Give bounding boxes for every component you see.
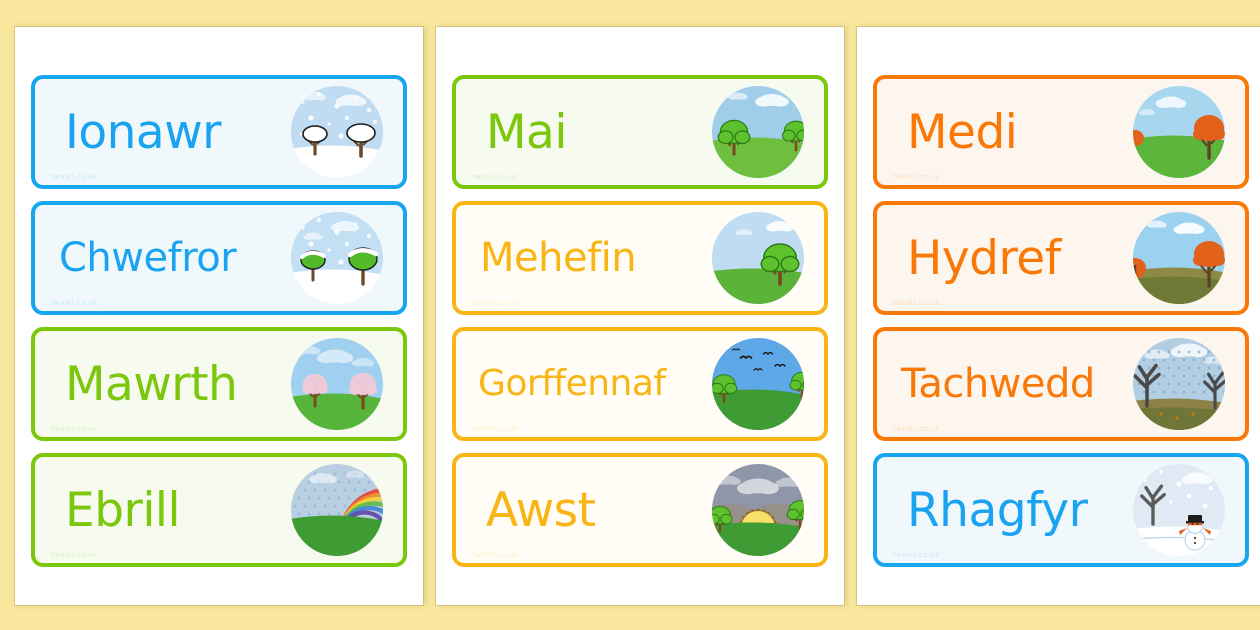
month-card-ionawr[interactable]: Ionawrtwinkl.co.uk	[31, 75, 407, 189]
watermark: twinkl.co.uk	[51, 425, 98, 433]
month-card-gorffennaf[interactable]: Gorffennaftwinkl.co.uk	[452, 327, 828, 441]
month-card-tachwedd[interactable]: Tachweddtwinkl.co.uk	[873, 327, 1249, 441]
bare-trees-rain-icon	[1131, 336, 1227, 432]
watermark: twinkl.co.uk	[893, 173, 940, 181]
birds-blue-sky-icon	[710, 336, 806, 432]
watermark: twinkl.co.uk	[51, 173, 98, 181]
autumn-tree-icon	[1131, 84, 1227, 180]
month-card-chwefror[interactable]: Chwefrortwinkl.co.uk	[31, 201, 407, 315]
sheet-3: Meditwinkl.co.ukHydreftwinkl.co.ukTachwe…	[857, 27, 1260, 605]
month-label: Tachwedd	[895, 364, 1131, 404]
month-card-mai[interactable]: Maitwinkl.co.uk	[452, 75, 828, 189]
sheet-row: Ionawrtwinkl.co.ukChwefrortwinkl.co.ukMa…	[0, 0, 1260, 630]
single-tree-sky-icon	[710, 210, 806, 306]
watermark: twinkl.co.uk	[893, 299, 940, 307]
month-card-rhagfyr[interactable]: Rhagfyrtwinkl.co.uk	[873, 453, 1249, 567]
month-label: Awst	[474, 487, 710, 534]
sheet-2: Maitwinkl.co.ukMehefintwinkl.co.ukGorffe…	[436, 27, 844, 605]
month-label: Rhagfyr	[895, 487, 1131, 534]
month-label: Hydref	[895, 235, 1131, 282]
month-label: Ionawr	[53, 109, 289, 156]
month-label: Mai	[474, 109, 710, 156]
month-card-mawrth[interactable]: Mawrthtwinkl.co.uk	[31, 327, 407, 441]
month-card-awst[interactable]: Awsttwinkl.co.uk	[452, 453, 828, 567]
month-card-ebrill[interactable]: Ebrilltwinkl.co.uk	[31, 453, 407, 567]
green-trees-sky-icon	[710, 84, 806, 180]
watermark: twinkl.co.uk	[472, 173, 519, 181]
watermark: twinkl.co.uk	[893, 551, 940, 559]
month-label: Mawrth	[53, 361, 289, 408]
watermark: twinkl.co.uk	[51, 551, 98, 559]
month-card-hydref[interactable]: Hydreftwinkl.co.uk	[873, 201, 1249, 315]
watermark: twinkl.co.uk	[472, 299, 519, 307]
autumn-two-trees-icon	[1131, 210, 1227, 306]
month-label: Mehefin	[474, 238, 710, 278]
sheet-1: Ionawrtwinkl.co.ukChwefrortwinkl.co.ukMa…	[15, 27, 423, 605]
blossom-trees-icon	[289, 336, 385, 432]
month-card-medi[interactable]: Meditwinkl.co.uk	[873, 75, 1249, 189]
snow-trees-icon	[289, 84, 385, 180]
watermark: twinkl.co.uk	[472, 425, 519, 433]
month-label: Gorffennaf	[474, 366, 710, 402]
snowman-icon	[1131, 462, 1227, 558]
poster-canvas: Ionawrtwinkl.co.ukChwefrortwinkl.co.ukMa…	[0, 0, 1260, 630]
month-card-mehefin[interactable]: Mehefintwinkl.co.uk	[452, 201, 828, 315]
month-label: Medi	[895, 109, 1131, 156]
watermark: twinkl.co.uk	[893, 425, 940, 433]
month-label: Chwefror	[53, 238, 289, 278]
rain-rainbow-icon	[289, 462, 385, 558]
snow-green-trees-icon	[289, 210, 385, 306]
watermark: twinkl.co.uk	[51, 299, 98, 307]
watermark: twinkl.co.uk	[472, 551, 519, 559]
month-label: Ebrill	[53, 487, 289, 534]
sunset-hills-icon	[710, 462, 806, 558]
